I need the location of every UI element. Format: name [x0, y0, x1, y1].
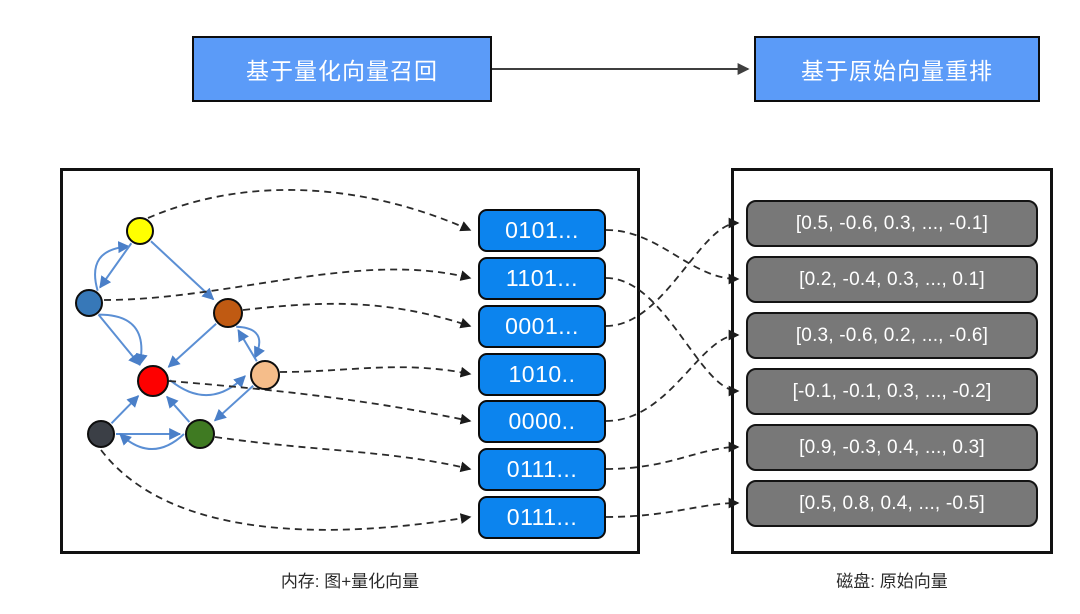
node-blue[interactable]	[75, 289, 103, 317]
node-peach[interactable]	[250, 360, 280, 390]
stage-two-box[interactable]: 基于原始向量重排	[754, 36, 1040, 102]
raw-vector-value: [0.9, -0.3, 0.4, ..., 0.3]	[799, 437, 985, 459]
node-green[interactable]	[185, 419, 215, 449]
node-gray[interactable]	[87, 420, 115, 448]
stage-one-label: 基于量化向量召回	[246, 52, 438, 86]
raw-vector-value: [0.5, 0.8, 0.4, ..., -0.5]	[799, 493, 985, 515]
raw-vector-value: [-0.1, -0.1, 0.3, ..., -0.2]	[793, 381, 992, 403]
raw-vector-value: [0.2, -0.4, 0.3, ..., 0.1]	[799, 269, 985, 291]
quantized-code-value: 0101...	[505, 217, 579, 244]
diagram-canvas: 基于量化向量召回 基于原始向量重排 0101...1101...0001...1…	[0, 0, 1080, 614]
quantized-code-value: 1101...	[506, 265, 578, 292]
raw-vector-chip[interactable]: [0.9, -0.3, 0.4, ..., 0.3]	[746, 424, 1038, 471]
quantized-code-value: 0001...	[505, 313, 579, 340]
raw-vector-value: [0.5, -0.6, 0.3, ..., -0.1]	[796, 213, 988, 235]
quantized-code-chip[interactable]: 0111...	[478, 496, 606, 539]
raw-vector-chip[interactable]: [0.5, -0.6, 0.3, ..., -0.1]	[746, 200, 1038, 247]
quantized-code-chip[interactable]: 0001...	[478, 305, 606, 348]
quantized-code-chip[interactable]: 0111...	[478, 448, 606, 491]
quantized-code-value: 0111...	[507, 456, 577, 483]
node-red[interactable]	[137, 365, 169, 397]
quantized-code-chip[interactable]: 1010..	[478, 353, 606, 396]
raw-vector-chip[interactable]: [0.5, 0.8, 0.4, ..., -0.5]	[746, 480, 1038, 527]
node-brown[interactable]	[213, 298, 243, 328]
quantized-code-chip[interactable]: 1101...	[478, 257, 606, 300]
raw-vector-value: [0.3, -0.6, 0.2, ..., -0.6]	[796, 325, 988, 347]
quantized-code-value: 0000..	[509, 408, 576, 435]
stage-two-label: 基于原始向量重排	[801, 52, 993, 86]
node-yellow[interactable]	[126, 217, 154, 245]
raw-vector-chip[interactable]: [0.2, -0.4, 0.3, ..., 0.1]	[746, 256, 1038, 303]
quantized-code-chip[interactable]: 0000..	[478, 400, 606, 443]
disk-panel-caption: 磁盘: 原始向量	[731, 567, 1053, 592]
raw-vector-chip[interactable]: [-0.1, -0.1, 0.3, ..., -0.2]	[746, 368, 1038, 415]
stage-one-box[interactable]: 基于量化向量召回	[192, 36, 492, 102]
quantized-code-value: 0111...	[507, 504, 577, 531]
raw-vector-chip[interactable]: [0.3, -0.6, 0.2, ..., -0.6]	[746, 312, 1038, 359]
memory-panel-caption: 内存: 图+量化向量	[60, 567, 640, 592]
quantized-code-chip[interactable]: 0101...	[478, 209, 606, 252]
quantized-code-value: 1010..	[509, 361, 576, 388]
